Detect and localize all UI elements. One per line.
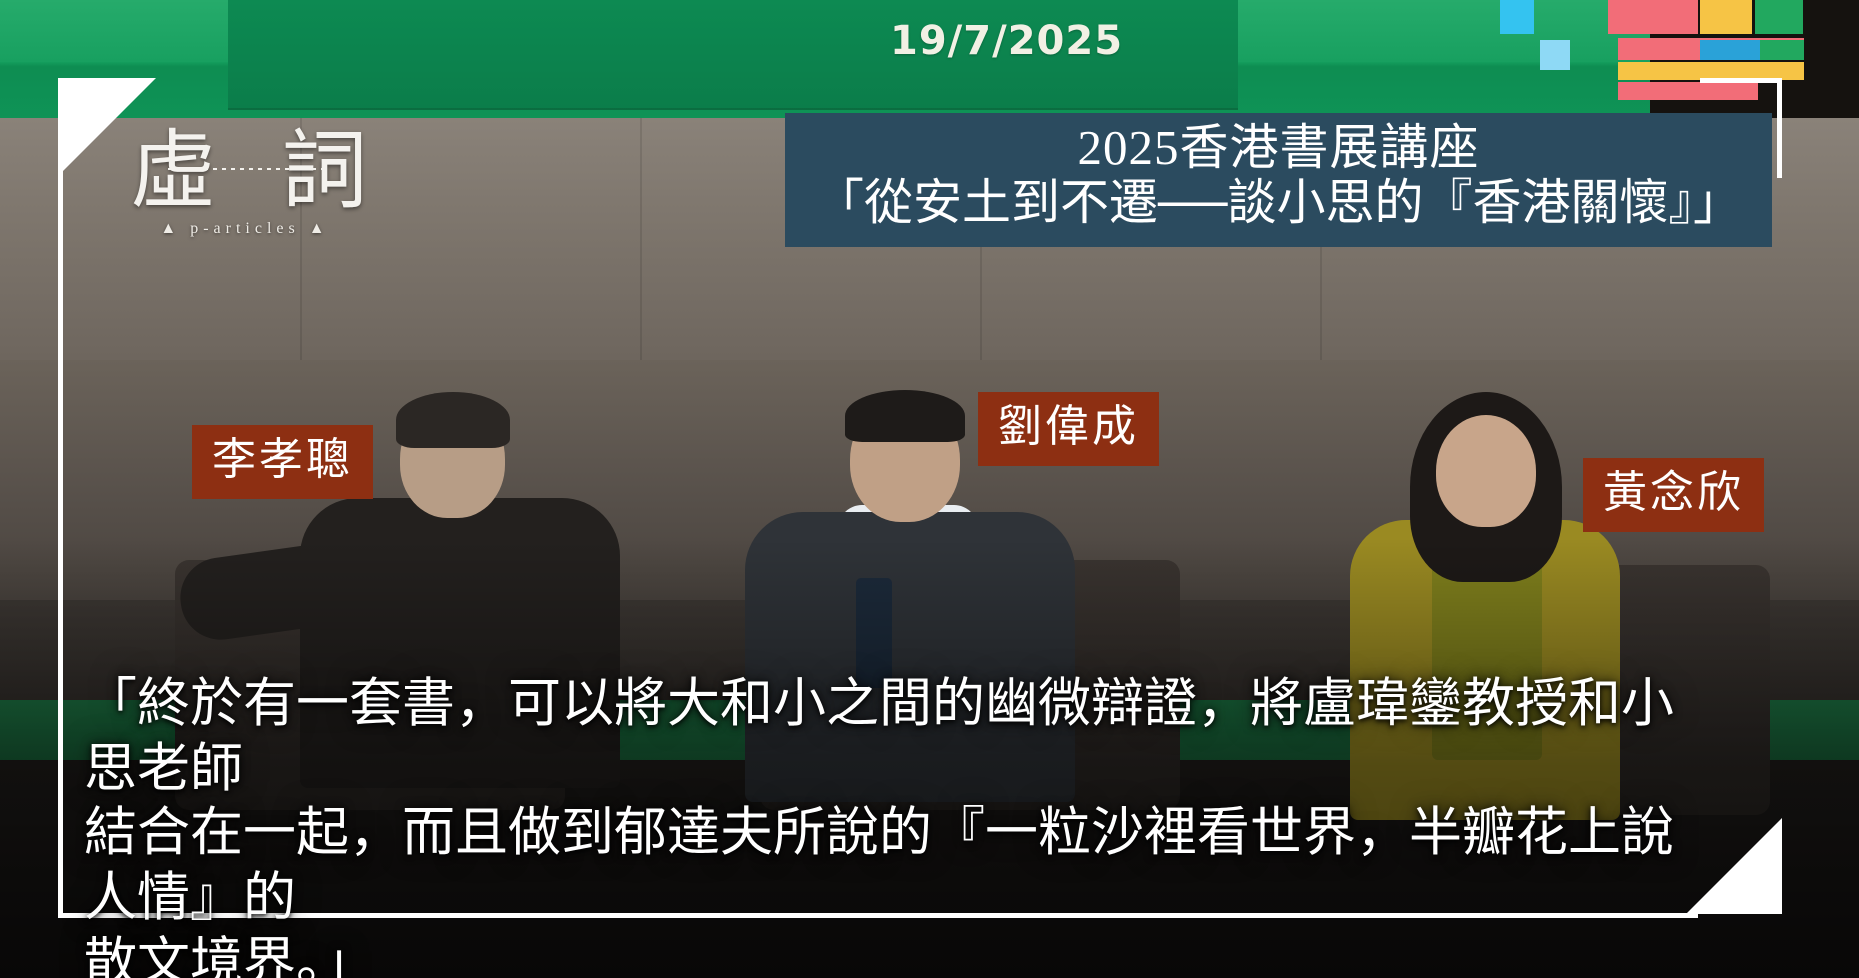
quote-line-2: 結合在一起，而且做到郁達夫所說的『一粒沙裡看世界，半瓣花上說人情』的 [84, 801, 1724, 930]
nametag-right: 黃念欣 [1583, 458, 1764, 532]
confetti-stripe-red-2 [1618, 82, 1758, 100]
panelist-right-face [1436, 415, 1536, 527]
nametag-center: 劉偉成 [978, 392, 1159, 466]
quote-line-3: 散文境界。」 [84, 931, 1724, 978]
event-date: 19/7/2025 [890, 18, 1123, 64]
confetti-bar-yellow [1700, 0, 1752, 34]
frame-edge-right [1777, 78, 1782, 178]
panelist-left-hair [396, 392, 510, 448]
event-photo-card: 19/7/2025 虛 詞 ▲ p-articles ▲ 2025香港書展講座 … [0, 0, 1859, 978]
wall-panel-seam [640, 118, 642, 368]
quote-line-1: 「終於有一套書，可以將大和小之間的幽微辯證，將盧瑋鑾教授和小思老師 [84, 672, 1724, 801]
frame-edge-top-right [1700, 78, 1782, 83]
confetti-stripe-green [1760, 40, 1804, 60]
frame-edge-left [58, 78, 63, 918]
title-line-1: 2025香港書展講座 [807, 121, 1750, 176]
nametag-left: 李孝聰 [192, 425, 373, 499]
confetti-stripe-blue [1700, 40, 1760, 60]
logo-latin-wordmark: ▲ p-articles ▲ [130, 220, 360, 238]
p-articles-logo[interactable]: 虛 詞 ▲ p-articles ▲ [130, 128, 360, 238]
panelist-center-hair [845, 390, 965, 442]
logo-dotted-rule [168, 168, 326, 170]
confetti-square-blue [1500, 0, 1534, 34]
confetti-bar-green [1755, 0, 1803, 34]
title-line-2: 「從安土到不遷──談小思的『香港關懷』」 [807, 176, 1750, 231]
quote-block: 「終於有一套書，可以將大和小之間的幽微辯證，將盧瑋鑾教授和小思老師 結合在一起，… [84, 672, 1724, 978]
confetti-bar-red [1608, 0, 1698, 34]
title-banner: 2025香港書展講座 「從安土到不遷──談小思的『香港關懷』」 [785, 113, 1772, 247]
confetti-square-lightblue [1540, 40, 1570, 70]
logo-chinese-wordmark: 虛 詞 [130, 128, 360, 214]
